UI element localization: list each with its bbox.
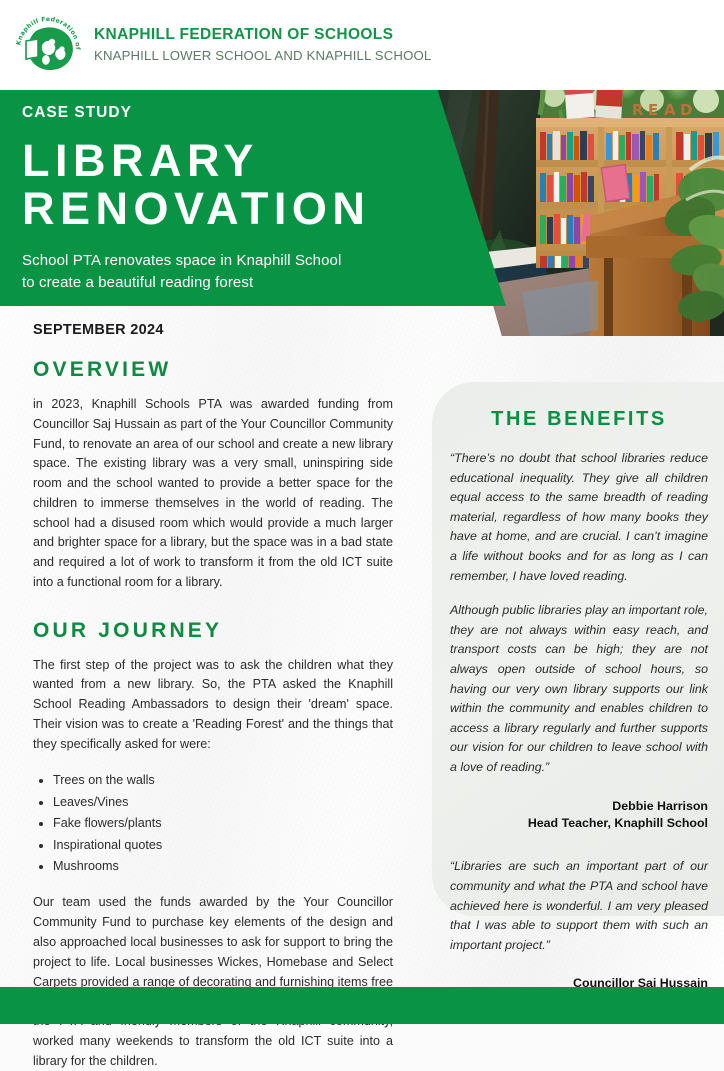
paragraph-spacer: [33, 877, 393, 893]
benefits-quote-1-attribution: Debbie Harrison Head Teacher, Knaphill S…: [450, 798, 708, 834]
journey-paragraph-1: The first step of the project was to ask…: [33, 656, 393, 755]
benefits-quote-2-paragraph-1: “Libraries are such an important part of…: [450, 857, 708, 955]
benefits-panel: THE BENEFITS “There’s no doubt that scho…: [432, 382, 724, 916]
wishlist-bullet-list: Trees on the walls Leaves/Vines Fake flo…: [53, 770, 393, 876]
benefits-quote-1-paragraph-1: “There’s no doubt that school libraries …: [450, 449, 708, 586]
left-column: OVERVIEW in 2023, Knaphill Schools PTA w…: [33, 358, 393, 1071]
overview-paragraph-1: in 2023, Knaphill Schools PTA was awarde…: [33, 395, 393, 593]
publication-date: SEPTEMBER 2024: [33, 322, 164, 338]
footer-green-bar: [0, 987, 724, 1024]
quote-spacer: [450, 586, 708, 601]
list-item: Inspirational quotes: [53, 835, 393, 855]
list-item: Leaves/Vines: [53, 792, 393, 812]
list-item: Fake flowers/plants: [53, 813, 393, 833]
document-body: SEPTEMBER 2024 OVERVIEW in 2023, Knaphil…: [0, 0, 724, 1024]
list-item: Mushrooms: [53, 856, 393, 876]
list-item: Trees on the walls: [53, 770, 393, 790]
section-heading-overview: OVERVIEW: [33, 358, 393, 382]
section-heading-our-journey: OUR JOURNEY: [33, 619, 393, 643]
section-heading-the-benefits: THE BENEFITS: [450, 408, 708, 431]
quote-block-spacer: [450, 833, 708, 857]
benefits-quote-1-paragraph-2: Although public libraries play an import…: [450, 601, 708, 777]
section-spacer: [33, 593, 393, 619]
journey-paragraph-2: Our team used the funds awarded by the Y…: [33, 893, 393, 1071]
